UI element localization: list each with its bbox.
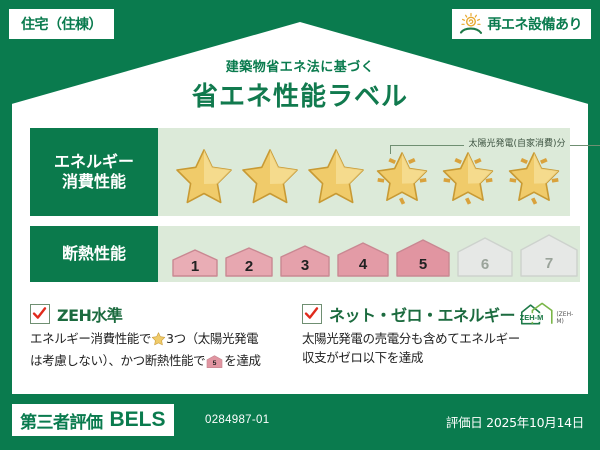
- zeh-m-logo: ZEH-M (ZEH-M): [520, 301, 578, 327]
- label-subtitle: 建築物省エネ法に基づく: [0, 56, 600, 75]
- nze-description: 太陽光発電の売電分も含めてエネルギー 収支がゼロ以下を達成: [302, 329, 554, 368]
- svg-text:1: 1: [191, 258, 199, 275]
- insulation-house-6: 6: [455, 235, 515, 277]
- insulation-house-scale: 1 2 3 4 5: [158, 232, 580, 277]
- housing-type-chip: 住宅（住棟）: [8, 8, 115, 40]
- svg-text:ZEH-M: ZEH-M: [520, 313, 543, 322]
- insulation-house-7: 7: [518, 232, 580, 277]
- insulation-label-text: 断熱性能: [62, 244, 126, 264]
- zeh-title: ZEH水準: [57, 302, 122, 326]
- star-rating: [158, 144, 566, 206]
- insulation-house-4: 4: [335, 240, 391, 277]
- zeh-m-house-icon: ZEH-M: [520, 301, 555, 327]
- energy-label-line2: 消費性能: [62, 172, 126, 192]
- nze-checkbox[interactable]: [302, 304, 322, 324]
- renewable-badge: 再エネ設備あり: [451, 8, 593, 40]
- star-filled-3: [304, 144, 368, 206]
- evaluation-date: 評価日 2025年10月14日: [446, 412, 584, 431]
- criteria-net-zero-energy: ネット・ゼロ・エネルギー ZEH-M (ZEH-M) 太陽光発電の売電分も含めて…: [302, 303, 554, 368]
- insulation-performance-label: 断熱性能: [30, 226, 158, 282]
- energy-label-root: 住宅（住棟） 再エネ設備あり 建築物省エネ法に基づく: [0, 0, 600, 450]
- nze-desc-line1: 太陽光発電の売電分も含めてエネルギー: [302, 331, 520, 346]
- insulation-levels-area: 1 2 3 4 5: [158, 226, 580, 282]
- star-solar-3: [502, 144, 566, 206]
- nze-title: ネット・ゼロ・エネルギー: [329, 302, 515, 326]
- inline-star-icon: [151, 331, 166, 351]
- red-check-icon: [32, 306, 47, 321]
- zeh-desc-part1: エネルギー消費性能で: [30, 331, 151, 346]
- zeh-desc-part3: は考慮しない）、かつ断熱性能で: [30, 353, 205, 368]
- insulation-house-2: 2: [223, 245, 275, 277]
- housing-type-label: 住宅（住棟）: [21, 14, 102, 34]
- svg-text:3: 3: [301, 257, 309, 274]
- label-title: 省エネ性能ラベル: [0, 76, 600, 113]
- star-solar-1: [370, 144, 434, 206]
- insulation-performance-row: 断熱性能 1 2 3 4: [30, 226, 570, 282]
- zeh-checkbox[interactable]: [30, 304, 50, 324]
- svg-text:6: 6: [481, 256, 489, 273]
- energy-label-line1: エネルギー: [54, 152, 134, 172]
- zeh-desc-part2: 3つ（太陽光発電: [166, 331, 258, 346]
- star-filled-1: [172, 144, 236, 206]
- star-solar-2: [436, 144, 500, 206]
- insulation-house-5: 5: [394, 237, 452, 277]
- nze-desc-line2: 収支がゼロ以下を達成: [302, 350, 423, 365]
- svg-text:7: 7: [545, 255, 553, 272]
- zeh-description: エネルギー消費性能で3つ（太陽光発電 は考慮しない）、かつ断熱性能で5を達成: [30, 329, 282, 375]
- zeh-m-caption: (ZEH-M): [556, 311, 578, 325]
- bels-label: BELS: [110, 408, 166, 432]
- bels-chip: 第三者評価 BELS: [12, 404, 174, 436]
- sun-renewable-icon: [458, 12, 484, 36]
- criteria-zeh-level: ZEH水準 エネルギー消費性能で3つ（太陽光発電 は考慮しない）、かつ断熱性能で…: [30, 303, 282, 375]
- energy-performance-row: エネルギー 消費性能 太陽光発電(自家消費)分: [30, 128, 570, 216]
- svg-text:2: 2: [245, 258, 253, 275]
- criteria-zeh-header: ZEH水準: [30, 303, 282, 325]
- zeh-desc-part4: を達成: [224, 353, 260, 368]
- svg-text:4: 4: [359, 256, 368, 273]
- energy-performance-label: エネルギー 消費性能: [30, 128, 158, 216]
- third-party-label: 第三者評価: [20, 408, 103, 433]
- svg-text:5: 5: [419, 256, 427, 273]
- inline-house-badge: 5: [206, 354, 223, 374]
- star-filled-2: [238, 144, 302, 206]
- red-check-icon: [304, 306, 319, 321]
- insulation-house-1: 1: [170, 247, 220, 277]
- energy-stars-area: 太陽光発電(自家消費)分: [158, 128, 570, 216]
- label-footer: 第三者評価 BELS 0284987-01 評価日 2025年10月14日: [0, 398, 600, 450]
- svg-text:5: 5: [213, 361, 217, 368]
- insulation-house-3: 3: [278, 243, 332, 277]
- renewable-badge-label: 再エネ設備あり: [488, 14, 583, 34]
- bels-number: 0284987-01: [205, 414, 269, 426]
- criteria-nze-header: ネット・ゼロ・エネルギー ZEH-M (ZEH-M): [302, 303, 554, 325]
